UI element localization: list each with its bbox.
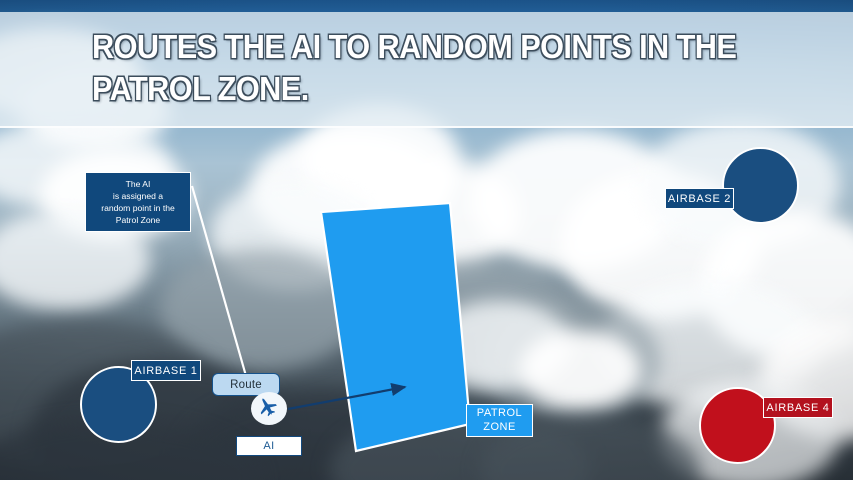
airbase-1-label[interactable]: AIRBASE 1 — [131, 360, 201, 381]
ai-label[interactable]: AI — [236, 436, 302, 456]
fighter-jet-icon — [254, 395, 284, 423]
airbase-2-label[interactable]: AIRBASE 2 — [665, 188, 734, 209]
ai-jet-badge[interactable] — [251, 392, 287, 425]
patrol-zone-shape[interactable] — [321, 203, 470, 451]
callout-line-1: The AI — [126, 178, 151, 190]
callout-line-2: is assigned a — [113, 190, 163, 202]
callout-line-4: Patrol Zone — [116, 214, 160, 226]
callout-line-3: random point in the — [101, 202, 175, 214]
slide-canvas: ROUTES THE AI TO RANDOM POINTS IN THE PA… — [0, 0, 853, 480]
patrol-zone-label[interactable]: PATROL ZONE — [466, 404, 533, 437]
patrol-zone-label-line-1: PATROL — [477, 407, 522, 421]
airbase-2-circle[interactable] — [722, 147, 799, 224]
airbase-4-label[interactable]: AIRBASE 4 — [763, 397, 833, 418]
leader-line — [192, 186, 246, 376]
patrol-zone-label-line-2: ZONE — [483, 421, 516, 435]
ai-random-point-callout: The AI is assigned a random point in the… — [85, 172, 191, 232]
